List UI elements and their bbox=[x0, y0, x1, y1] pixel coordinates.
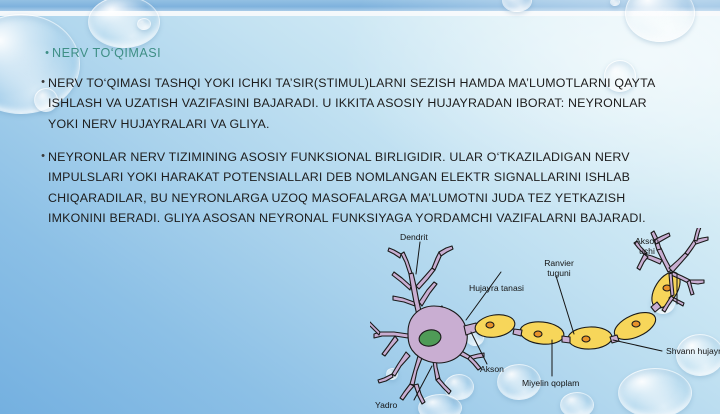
leader-dendrit bbox=[416, 242, 420, 274]
label-akson: Akson bbox=[480, 364, 504, 374]
leader-hujayra-tanasi bbox=[466, 272, 501, 320]
slide-title-text: NERV TO‘QIMASI bbox=[52, 44, 161, 62]
label-akson-uchi: Akson uchi bbox=[622, 236, 672, 256]
leader-shvann bbox=[613, 340, 662, 351]
label-miyelin-qoplam: Miyelin qoplam bbox=[522, 378, 579, 388]
label-yadro: Yadro bbox=[375, 400, 397, 410]
body-paragraph-1-text: NERV TO‘QIMASI TASHQI YOKI ICHKI TA’SIR(… bbox=[48, 73, 666, 134]
label-shvann-hujayrasi: Shvann hujayrasi bbox=[666, 346, 720, 356]
body-paragraph-2: • NEYRONLAR NERV TIZIMINING ASOSIY FUNKS… bbox=[38, 147, 664, 229]
bullet-marker: • bbox=[38, 147, 48, 165]
slide-canvas: • NERV TO‘QIMASI • NERV TO‘QIMASI TASHQI… bbox=[0, 0, 720, 414]
top-blue-band bbox=[0, 0, 720, 11]
slide-title: • NERV TO‘QIMASI bbox=[42, 44, 682, 62]
bullet-marker: • bbox=[42, 44, 52, 62]
body-paragraph-2-text: NEYRONLAR NERV TIZIMINING ASOSIY FUNKSIO… bbox=[48, 147, 664, 229]
bullet-marker: • bbox=[38, 73, 48, 91]
body-paragraph-1: • NERV TO‘QIMASI TASHQI YOKI ICHKI TA’SI… bbox=[38, 73, 666, 134]
leader-ranvier bbox=[556, 276, 574, 334]
label-dendrit: Dendrit bbox=[400, 232, 428, 242]
neuron-diagram: Dendrit Hujayra tanasi Ranvier tuguni Ak… bbox=[370, 228, 720, 414]
label-ranvier-tuguni: Ranvier tuguni bbox=[534, 258, 584, 278]
label-hujayra-tanasi: Hujayra tanasi bbox=[469, 283, 524, 293]
